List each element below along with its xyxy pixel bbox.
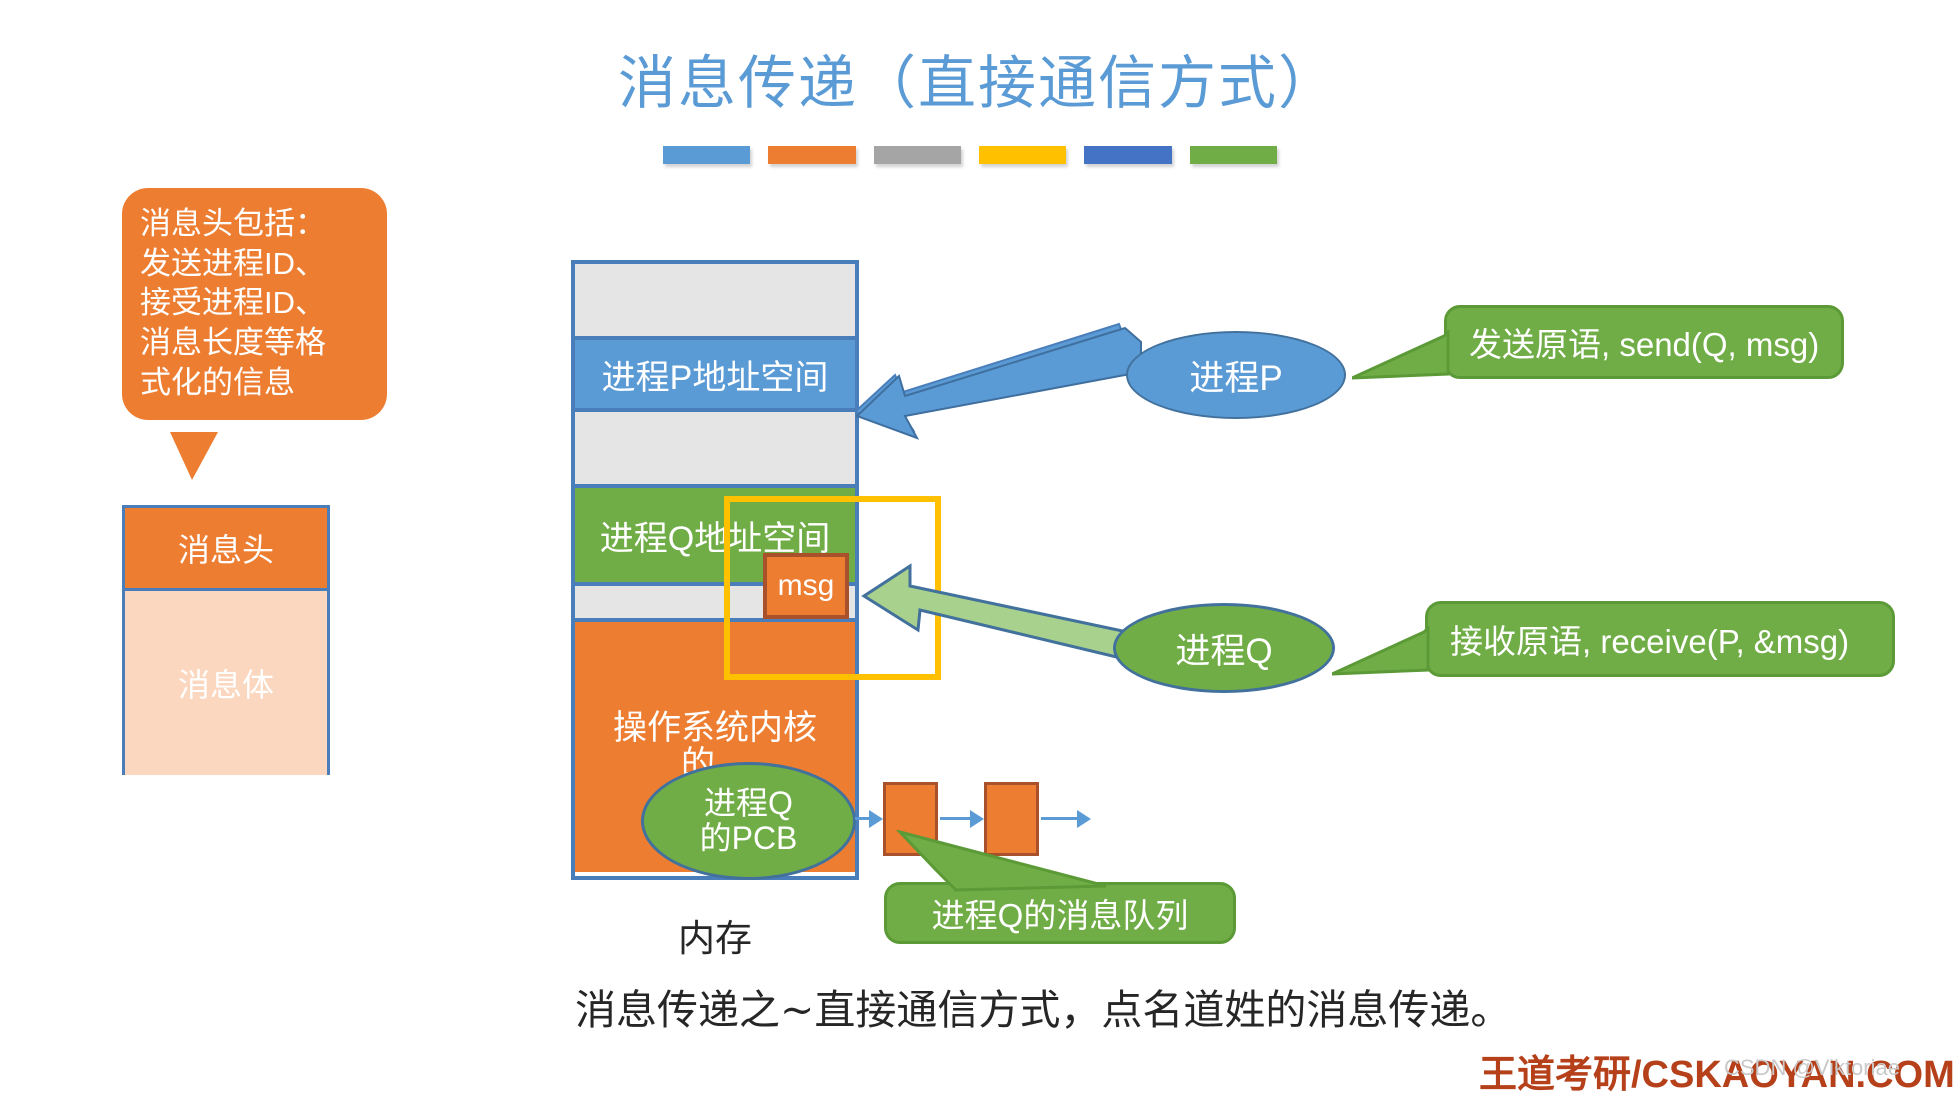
csdn-watermark: CSDN @Viktoriae: [1724, 1055, 1900, 1081]
memory-free-slot-1: [575, 264, 855, 340]
pcb-label-line2: 的PCB: [700, 821, 798, 856]
os-kernel-label-1: 操作系统内核: [613, 711, 817, 747]
process-p-ellipse: 进程P: [1126, 331, 1346, 419]
process-q-pcb-ellipse: 进程Q 的PCB: [641, 762, 856, 880]
slide-canvas: 消息传递（直接通信方式） 消息头包括： 发送进程ID、 接受进程ID、 消息长度…: [0, 0, 1956, 1092]
accent-seg-yellow: [979, 146, 1066, 164]
note-line-5: 式化的信息: [140, 363, 373, 403]
accent-seg-darkblue: [1084, 146, 1171, 164]
message-structure-box: 消息头 消息体: [122, 505, 330, 775]
accent-seg-gray: [874, 146, 961, 164]
queue-callout-tail: [896, 830, 1126, 900]
receive-callout-tail: [1332, 626, 1432, 688]
accent-seg-green: [1190, 146, 1277, 164]
message-header-note: 消息头包括： 发送进程ID、 接受进程ID、 消息长度等格 式化的信息: [122, 188, 387, 420]
accent-seg-orange: [768, 146, 855, 164]
note-tail-pointer: [170, 432, 218, 480]
page-title: 消息传递（直接通信方式）: [0, 36, 1956, 120]
process-q-ellipse: 进程Q: [1113, 603, 1335, 693]
send-primitive-callout: 发送原语, send(Q, msg): [1444, 305, 1844, 379]
note-line-3: 接受进程ID、: [140, 283, 373, 323]
queue-arrowhead-1: [970, 810, 984, 828]
receive-primitive-callout: 接收原语, receive(P, &msg): [1425, 601, 1895, 677]
note-line-1: 消息头包括：: [140, 204, 373, 244]
note-line-4: 消息长度等格: [140, 323, 373, 363]
message-body-cell: 消息体: [125, 591, 327, 775]
memory-process-p-address-space: 进程P地址空间: [575, 340, 855, 412]
send-block-arrow: [855, 320, 1145, 445]
pcb-label-line1: 进程Q: [704, 786, 793, 821]
send-callout-tail: [1352, 330, 1452, 392]
accent-seg-blue: [663, 146, 750, 164]
note-line-2: 发送进程ID、: [140, 244, 373, 284]
slide-caption: 消息传递之~直接通信方式，点名道姓的消息传递。: [575, 976, 1511, 1036]
memory-free-slot-2: [575, 412, 855, 488]
message-head-cell: 消息头: [125, 508, 327, 591]
memory-label: 内存: [605, 908, 825, 962]
queue-arrowhead-0: [869, 810, 883, 828]
receive-block-arrow: [858, 560, 1148, 690]
queue-arrowhead-2: [1077, 810, 1091, 828]
accent-color-bar: [663, 146, 1277, 164]
